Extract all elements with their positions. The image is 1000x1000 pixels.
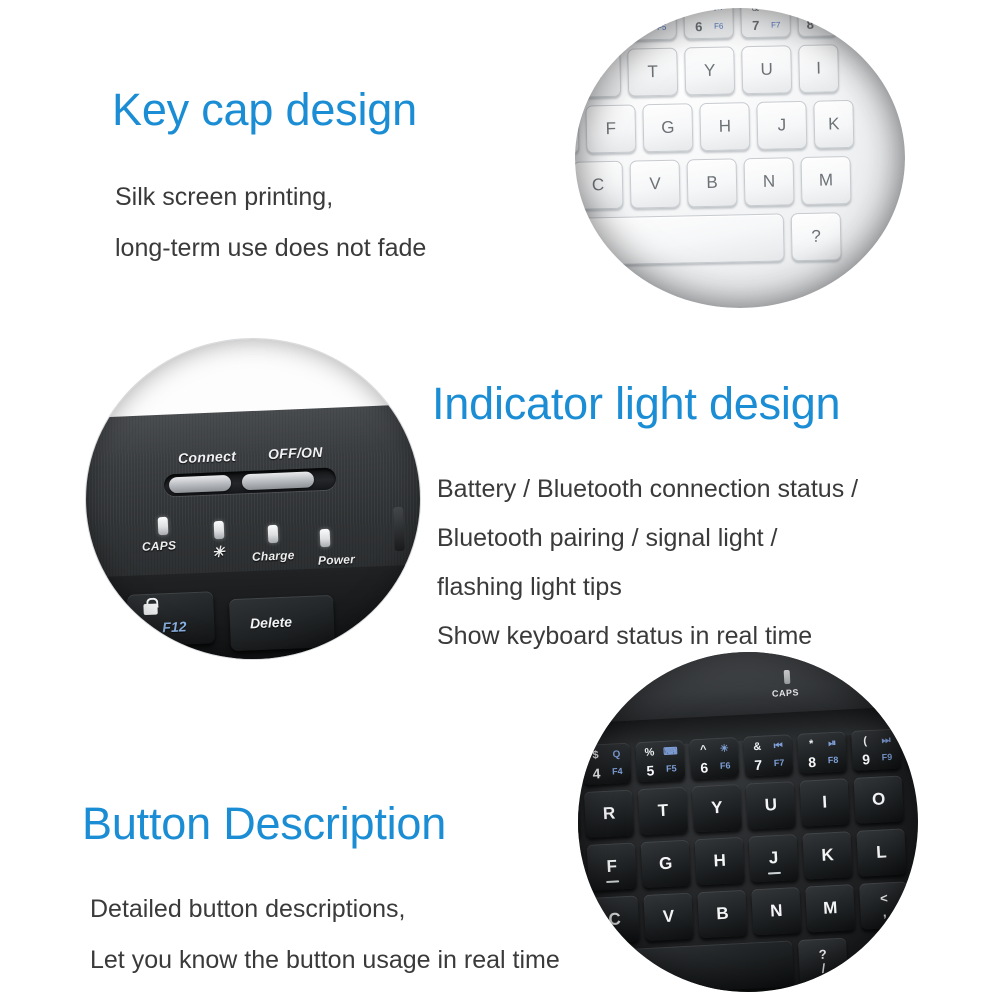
key-k: K: [802, 831, 852, 879]
key-4: $ Q 4 F4: [581, 743, 631, 785]
led-charge: [268, 525, 279, 543]
key-5: % ⌨ 5 F5: [626, 8, 677, 41]
white-letter-row-2: D F G H J K: [575, 98, 905, 155]
key-symbol: &: [745, 8, 765, 17]
white-letter-row-1: R T Y U I: [575, 42, 905, 99]
section-body-key-cap-design: Silk screen printing, long-term use does…: [115, 185, 426, 261]
bluetooth-icon: ✳: [212, 543, 226, 562]
key-r: R: [575, 49, 621, 98]
key-symbol: (: [854, 733, 876, 751]
key-partial: [578, 951, 589, 992]
body-line: long-term use does not fade: [115, 236, 426, 261]
key-8: * ⏯ 8 F8: [797, 731, 847, 773]
fn-label: F5: [652, 19, 672, 36]
fn-symbol-icon: ⏯: [821, 734, 843, 752]
key-7: & ⏭ 7 F7: [740, 8, 791, 38]
key-j-label: J: [768, 848, 779, 868]
led-label-charge: Charge: [252, 548, 295, 564]
key-t: T: [638, 787, 688, 835]
key-6: ^ ☀ 6 F6: [689, 737, 739, 779]
key-digit: 7: [746, 17, 766, 34]
key-symbol: %: [639, 744, 661, 762]
key-digit: 5: [632, 19, 652, 36]
key-9: ( ⏭ 9 F9: [851, 728, 901, 770]
key-j: J: [756, 101, 807, 150]
key-symbol: %: [631, 8, 651, 20]
key-digit: 8: [801, 753, 823, 771]
key-u: U: [746, 781, 796, 829]
body-line: Detailed button descriptions,: [90, 897, 560, 922]
white-letter-row-3: C V B N M: [575, 153, 905, 210]
key-h: H: [699, 102, 750, 151]
key-v: V: [630, 160, 681, 209]
key-8: 8: [797, 8, 838, 37]
key-f: F: [585, 104, 636, 153]
section-heading-button-description: Button Description: [82, 800, 560, 847]
fn-symbol-icon: ⏮: [767, 737, 789, 755]
key-symbol: &: [746, 738, 768, 756]
key-comma-lower: ,: [882, 905, 886, 919]
body-line: Show keyboard status in real time: [437, 624, 858, 649]
key-f: F: [587, 842, 637, 890]
fn-label: F9: [876, 749, 898, 767]
key-d: D: [575, 106, 579, 155]
key-j: J: [748, 834, 798, 882]
led-label-power: Power: [318, 552, 356, 568]
key-o: O: [854, 775, 904, 823]
connect-switch-knob[interactable]: [169, 475, 232, 494]
led-caps: [158, 517, 169, 535]
key-digit: 6: [689, 18, 709, 35]
body-line: Silk screen printing,: [115, 185, 426, 210]
key-symbol: ^: [692, 741, 714, 759]
key-6: ^ ⏮ 6 F6: [683, 8, 734, 39]
key-o-label: O: [872, 789, 886, 810]
key-v: V: [643, 893, 693, 941]
fn-symbol-icon: ☀: [713, 740, 735, 758]
key-y: Y: [692, 784, 742, 832]
led-bluetooth: [214, 521, 225, 539]
key-spacebar: [575, 213, 785, 265]
key-g: G: [641, 840, 691, 888]
fn-symbol-icon: ⌨: [660, 743, 682, 761]
key-f12-label: F12: [162, 618, 187, 635]
key-digit: 6: [693, 758, 715, 776]
switch-label-off-on: OFF/ON: [268, 444, 323, 462]
body-line: Battery / Bluetooth connection status /: [437, 477, 858, 502]
key-partial: [578, 898, 586, 946]
section-key-cap-design: Key cap design Silk screen printing, lon…: [112, 86, 426, 261]
fn-label: F8: [822, 751, 844, 769]
fn-symbol-icon: Q: [606, 746, 628, 764]
section-button-description: Button Description Detailed button descr…: [82, 800, 560, 973]
key-digit: 7: [747, 755, 769, 773]
key-digit: 9: [855, 750, 877, 768]
key-symbol: ^: [688, 8, 708, 18]
key-c: C: [575, 161, 624, 210]
section-heading-indicator-light-design: Indicator light design: [432, 380, 858, 427]
key-symbol: *: [800, 736, 822, 754]
fn-label: F6: [714, 757, 736, 775]
key-delete-label: Delete: [250, 614, 293, 632]
key-i: I: [798, 44, 839, 93]
led-bluetooth: [850, 676, 855, 685]
key-h: H: [695, 837, 745, 885]
white-number-row: ⌕ 4 F4 % ⌨ 5 F5 ^ ⏮: [575, 8, 905, 43]
home-row-bump: [768, 872, 781, 875]
key-n: N: [751, 887, 801, 935]
switch-label-connect: Connect: [178, 448, 237, 466]
charging-port: [393, 507, 405, 551]
key-k: K: [813, 100, 854, 149]
black-keyboard-closeup-photo: CAPS $ Q 4 F4 % ⌨ 5: [578, 652, 918, 992]
key-digit: 5: [639, 761, 661, 779]
key-b: B: [687, 158, 738, 207]
key-f12[interactable]: F12: [127, 591, 215, 647]
key-e: E iOS: [578, 792, 580, 840]
fn-label: F4: [606, 763, 628, 781]
fn-label: [818, 15, 833, 32]
key-question-lower: /: [821, 962, 825, 976]
key-5: % ⌨ 5 F5: [635, 740, 685, 782]
key-symbol: ): [908, 730, 918, 748]
key-spacebar: [592, 940, 794, 992]
fn-label: F4: [595, 20, 615, 37]
key-comma: < ,: [859, 881, 909, 929]
white-bottom-row: ?: [575, 209, 905, 266]
white-keyboard-closeup-photo: ⌕ 4 F4 % ⌨ 5 F5 ^ ⏮: [575, 8, 905, 308]
key-u: U: [741, 45, 792, 94]
fn-label: F6: [709, 18, 729, 35]
section-body-button-description: Detailed button descriptions, Let you kn…: [90, 897, 560, 973]
key-l: L: [856, 828, 906, 876]
key-y: Y: [684, 46, 735, 95]
fn-symbol-icon: ⏭: [875, 732, 897, 750]
body-line: flashing light tips: [437, 575, 858, 600]
fn-symbol-icon: ⏮: [708, 8, 728, 18]
section-heading-key-cap-design: Key cap design: [112, 86, 426, 133]
section-indicator-light-design: Indicator light design Battery / Bluetoo…: [432, 380, 858, 649]
key-delete[interactable]: Delete: [229, 595, 335, 651]
key-m: M: [805, 884, 855, 932]
section-body-indicator-light-design: Battery / Bluetooth connection status / …: [437, 477, 858, 649]
key-symbol: [575, 8, 595, 21]
key-digit: 4: [575, 20, 595, 37]
black-keyboard-keys: $ Q 4 F4 % ⌨ 5 F5 ^: [578, 725, 918, 992]
body-line: Bluetooth pairing / signal light /: [437, 526, 858, 551]
key-i: I: [800, 778, 850, 826]
key-digit: 8: [803, 16, 818, 33]
led-label-caps: CAPS: [142, 538, 177, 553]
key-symbol: $: [585, 747, 607, 765]
led-power: [320, 529, 331, 547]
fn-symbol-icon: ⌕: [594, 8, 614, 20]
white-keyboard-keys: ⌕ 4 F4 % ⌨ 5 F5 ^ ⏮: [575, 8, 905, 274]
lock-icon: [143, 604, 157, 616]
key-t: T: [627, 48, 678, 97]
fn-label: F7: [768, 754, 790, 772]
fn-label: F7: [766, 16, 786, 33]
key-m: M: [801, 156, 852, 205]
key-n: N: [744, 157, 795, 206]
key-question: ? /: [798, 938, 848, 986]
fn-label: F5: [660, 760, 682, 778]
key-b: B: [697, 890, 747, 938]
led-label-caps: CAPS: [772, 687, 800, 698]
key-0: ) 0: [905, 726, 918, 768]
led-caps: [784, 670, 791, 684]
product-feature-page: Key cap design Silk screen printing, lon…: [0, 0, 1000, 1000]
key-r: R: [584, 790, 634, 838]
power-switch-knob[interactable]: [242, 471, 315, 490]
key-7: & ⏮ 7 F7: [743, 734, 793, 776]
home-row-bump: [606, 880, 619, 883]
key-g: G: [642, 103, 693, 152]
fn-symbol-icon: ⌨: [651, 8, 671, 19]
key-f-label: F: [606, 856, 617, 877]
key-question: ?: [791, 212, 842, 261]
key-digit: 4: [585, 764, 607, 782]
body-line: Let you know the button usage in real ti…: [90, 948, 560, 973]
key-d: D: [578, 845, 583, 893]
key-c: C: [589, 895, 639, 943]
key-4: ⌕ 4 F4: [575, 8, 620, 42]
key-digit: 0: [909, 747, 918, 765]
indicator-panel-closeup-photo: Connect OFF/ON CAPS ✳ Charge Power F12 D…: [85, 338, 421, 660]
